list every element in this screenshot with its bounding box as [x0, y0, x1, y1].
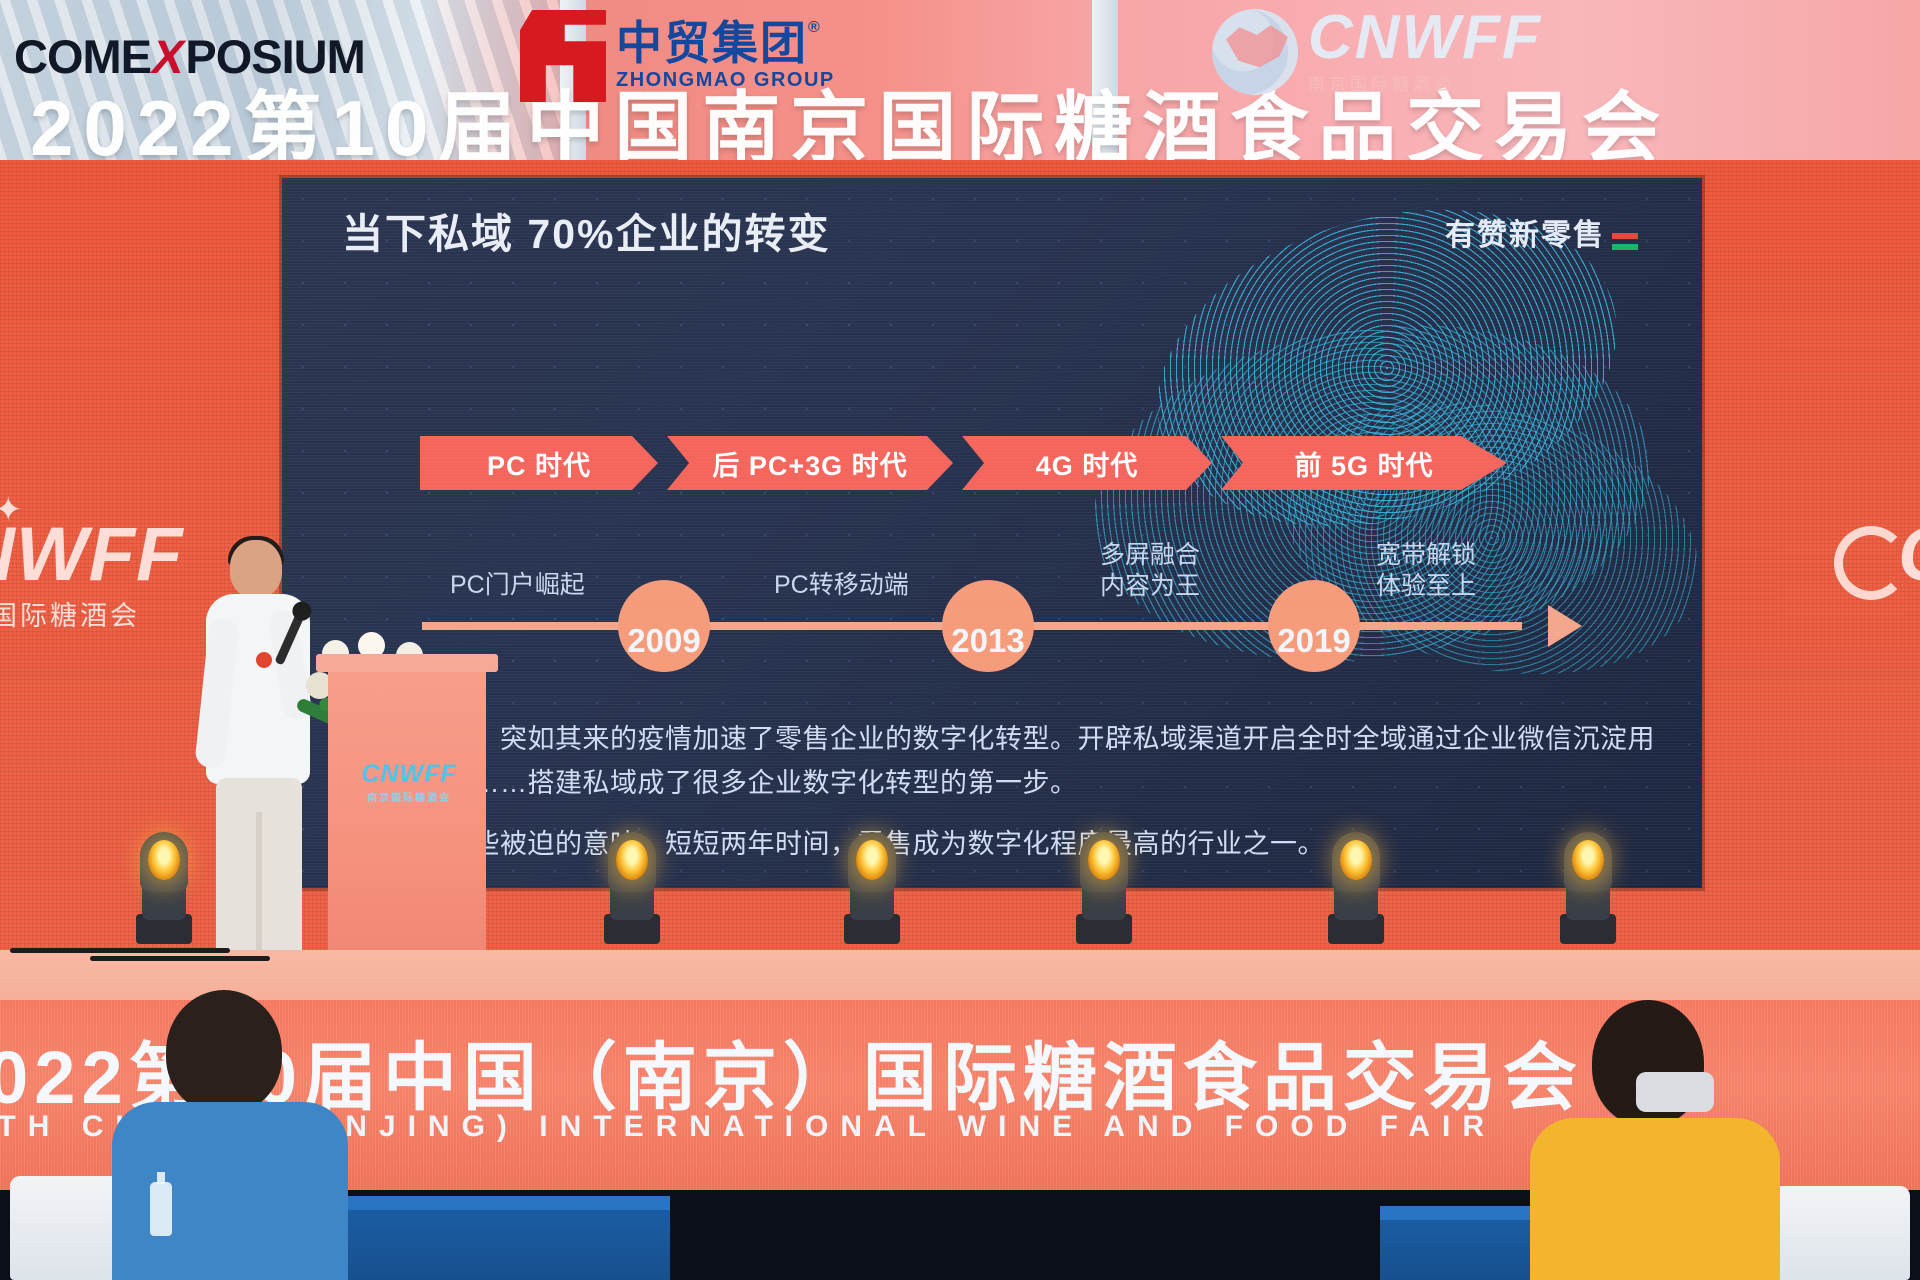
- timeline-caption: 宽带解锁 体验至上: [1376, 540, 1476, 603]
- cnwff-left-sub: 京国际糖酒会: [0, 594, 183, 633]
- audience-head: [166, 990, 282, 1114]
- comexposium-logo: COMEXPOSIUM: [14, 28, 365, 84]
- timeline-caption: PC门户崛起: [450, 570, 585, 601]
- timeline-arrow: 4G 时代: [962, 436, 1212, 490]
- stage-light: [1320, 832, 1392, 944]
- water-bottle: [150, 1182, 172, 1236]
- stage-light: [1068, 832, 1140, 944]
- zhongmao-mark-icon: [520, 10, 606, 102]
- globe-icon: [1212, 9, 1298, 95]
- comexposium-x-icon: X: [145, 29, 191, 84]
- lamp-glow-icon: [1572, 840, 1604, 880]
- cnwff-right-logo: C: [1840, 520, 1920, 590]
- stage-light: [1552, 832, 1624, 944]
- cnwff-sub: 南京国际糖酒会: [1308, 70, 1542, 95]
- lamp-glow-icon: [148, 840, 180, 880]
- cnwff-top-logo: CNWFF 南京国际糖酒会: [1212, 2, 1652, 102]
- face-mask-icon: [1636, 1072, 1714, 1112]
- slide-paragraph: 带着一些被迫的意味，短短两年时间，零售成为数字化程度最高的行业之一。: [390, 823, 1660, 867]
- stage-cables: [0, 930, 520, 970]
- screenshot-stage: 2022第10届中国南京国际糖酒食品交易会 CNWFF 南京国际糖酒会 COME…: [0, 0, 1920, 1280]
- zhongmao-en: ZHONGMAO GROUP: [616, 69, 835, 92]
- youzan-brand-name: 有赞新零售: [1445, 210, 1605, 254]
- slide-body-text: 两年前，突如其来的疫情加速了零售企业的数字化转型。开辟私域渠道开启全时全域通过企…: [390, 718, 1660, 867]
- cnwff-left-wordmark: NWFF: [0, 520, 183, 590]
- year-marker: 2013: [942, 580, 1034, 672]
- stage-light: [596, 832, 668, 944]
- timeline-caption: 多屏融合 内容为王: [1100, 540, 1200, 603]
- axis-arrow-icon: [1548, 605, 1582, 647]
- cnwff-wordmark: CNWFF: [1308, 9, 1542, 68]
- zhongmao-logo: 中贸集团® ZHONGMAO GROUP: [520, 10, 835, 102]
- registered-icon: ®: [808, 19, 822, 36]
- podium-cnwff-logo: CNWFF 南京国际糖酒会: [350, 760, 468, 804]
- sparkle-icon: ✦: [0, 490, 23, 530]
- lamp-glow-icon: [616, 840, 648, 880]
- zhongmao-cn: 中贸集团®: [616, 20, 835, 66]
- timeline-arrow-row: PC 时代 后 PC+3G 时代 4G 时代 前 5G 时代: [420, 436, 1516, 490]
- lamp-glow-icon: [856, 840, 888, 880]
- audience-member: [118, 990, 338, 1280]
- timeline-axis: 2009 2013 2019: [422, 622, 1582, 630]
- audience-member: [1540, 1000, 1770, 1280]
- timeline-arrow: 后 PC+3G 时代: [667, 436, 953, 490]
- stage-light: [836, 832, 908, 944]
- year-marker: 2009: [618, 580, 710, 672]
- lamp-glow-icon: [1340, 840, 1372, 880]
- venue-upper-wall: 2022第10届中国南京国际糖酒食品交易会 CNWFF 南京国际糖酒会: [0, 0, 1920, 170]
- youzan-brand-logo: 有赞新零售: [1445, 210, 1638, 254]
- speaker-badge: [256, 652, 272, 668]
- lamp-glow-icon: [1088, 840, 1120, 880]
- comexposium-right: POSIUM: [185, 29, 364, 84]
- timeline-arrow: 前 5G 时代: [1221, 436, 1507, 490]
- globe-outline-icon: [1834, 526, 1908, 600]
- slide-title: 当下私域 70%企业的转变: [342, 200, 830, 260]
- speaker-head: [230, 540, 282, 598]
- year-marker: 2019: [1268, 580, 1360, 672]
- brand-bars-icon: [1612, 233, 1638, 254]
- slide-paragraph: 两年前，突如其来的疫情加速了零售企业的数字化转型。开辟私域渠道开启全时全域通过企…: [390, 718, 1660, 805]
- cnwff-left-logo: ✦ NWFF 京国际糖酒会: [0, 520, 183, 633]
- audience-shoulders: [112, 1102, 348, 1280]
- zhongmao-text: 中贸集团® ZHONGMAO GROUP: [616, 20, 835, 92]
- podium-top: [316, 654, 498, 672]
- audience-shoulders: [1530, 1118, 1780, 1280]
- timeline-arrow: PC 时代: [420, 436, 658, 490]
- comexposium-left: COME: [14, 29, 151, 84]
- podium-cnwff-sub: 南京国际糖酒会: [350, 789, 468, 804]
- presentation-screen: 当下私域 70%企业的转变 有赞新零售 PC 时代 后 PC+3G 时代 4G …: [282, 178, 1702, 888]
- stage-light: [128, 832, 200, 944]
- timeline-caption: PC转移动端: [774, 570, 909, 601]
